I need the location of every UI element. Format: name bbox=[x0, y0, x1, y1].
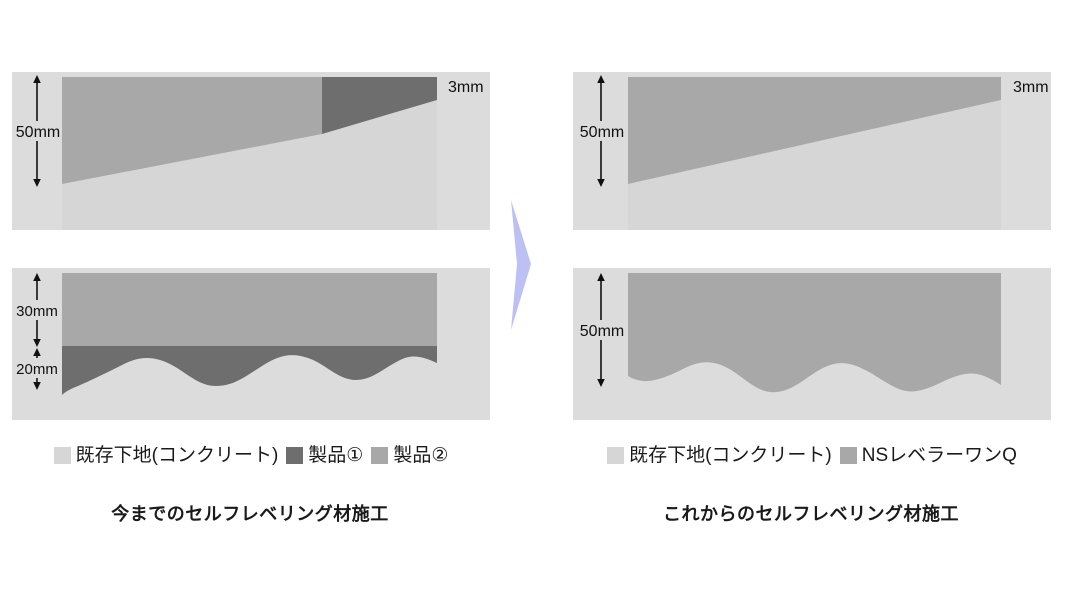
dimension-30mm-label: 30mm bbox=[16, 303, 58, 320]
after-bottom-panel-svg: 50mm bbox=[573, 268, 1051, 420]
legend-label-product-2: 製品② bbox=[393, 446, 448, 465]
legend-entry-product-2: 製品② bbox=[371, 446, 448, 465]
legend-label-product-1: 製品① bbox=[308, 446, 363, 465]
after-legend: 既存下地(コンクリート) NSレベラーワンQ bbox=[573, 440, 1051, 470]
legend-label-substrate: 既存下地(コンクリート) bbox=[629, 446, 832, 465]
flow-arrow bbox=[505, 200, 557, 330]
legend-swatch-product-2 bbox=[371, 447, 388, 464]
flow-arrow-icon bbox=[505, 200, 557, 330]
legend-entry-leveler: NSレベラーワンQ bbox=[840, 446, 1017, 465]
dimension-20mm-label: 20mm bbox=[16, 361, 58, 378]
before-top-panel: 50mm 3mm bbox=[12, 72, 490, 230]
legend-label-leveler: NSレベラーワンQ bbox=[862, 446, 1017, 465]
dimension-3mm-label: 3mm bbox=[1013, 79, 1049, 96]
legend-label-substrate: 既存下地(コンクリート) bbox=[76, 446, 279, 465]
after-top-panel: 50mm 3mm bbox=[573, 72, 1051, 230]
dimension-50mm-label: 50mm bbox=[580, 323, 624, 340]
dimension-3mm-label: 3mm bbox=[448, 79, 484, 96]
dimension-50mm-label: 50mm bbox=[16, 124, 60, 141]
after-caption: これからのセルフレベリング材施工 bbox=[561, 500, 1061, 526]
before-bottom-panel: 30mm 20mm bbox=[12, 268, 490, 420]
legend-swatch-product-1 bbox=[286, 447, 303, 464]
before-bottom-panel-svg: 30mm 20mm bbox=[12, 268, 490, 420]
legend-swatch-substrate bbox=[607, 447, 624, 464]
before-caption: 今までのセルフレベリング材施工 bbox=[0, 500, 500, 526]
legend-entry-substrate: 既存下地(コンクリート) bbox=[54, 446, 279, 465]
legend-swatch-substrate bbox=[54, 447, 71, 464]
column-before: 50mm 3mm 30mm bbox=[0, 0, 500, 608]
product-2-layer bbox=[62, 273, 437, 346]
before-top-panel-svg: 50mm 3mm bbox=[12, 72, 490, 230]
legend-swatch-leveler bbox=[840, 447, 857, 464]
legend-entry-product-1: 製品① bbox=[286, 446, 363, 465]
diagram-stage: 50mm 3mm 30mm bbox=[0, 0, 1080, 608]
before-legend: 既存下地(コンクリート) 製品① 製品② bbox=[12, 440, 490, 470]
dimension-50mm-label: 50mm bbox=[580, 124, 624, 141]
legend-entry-substrate: 既存下地(コンクリート) bbox=[607, 446, 832, 465]
arrow-right-icon bbox=[511, 200, 531, 330]
column-after: 50mm 3mm 50mm bbox=[561, 0, 1061, 608]
after-top-panel-svg: 50mm 3mm bbox=[573, 72, 1051, 230]
after-bottom-panel: 50mm bbox=[573, 268, 1051, 420]
